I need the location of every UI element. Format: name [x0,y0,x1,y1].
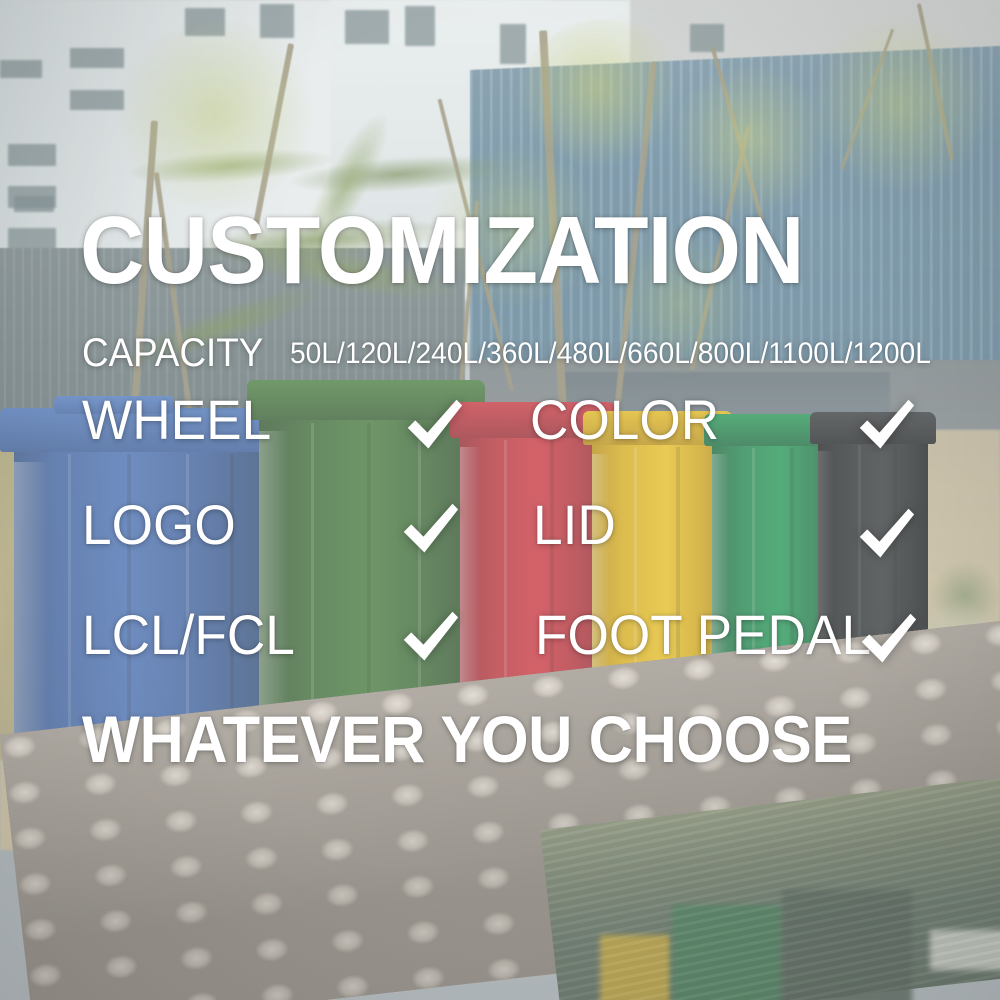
promo-banner: CUSTOMIZATION CAPACITY 50L/120L/240L/360… [0,0,1000,1000]
checkmark-icon-lcl-fcl [400,608,460,668]
page-title: CUSTOMIZATION [80,203,804,299]
feature-label-lcl-fcl: LCL/FCL [82,607,295,663]
feature-label-lid: LID [533,497,616,553]
checkmark-icon-color [856,396,916,456]
checkmark-icon-wheel [404,396,464,456]
feature-label-color: COLOR [530,392,719,448]
capacity-label: CAPACITY [82,333,263,373]
feature-label-wheel: WHEEL [82,392,271,448]
feature-label-logo: LOGO [82,497,236,553]
checkmark-icon-lid [856,505,916,565]
text-overlay: CUSTOMIZATION CAPACITY 50L/120L/240L/360… [0,0,1000,1000]
feature-label-foot-pedal: FOOT PEDAL [535,607,871,663]
checkmark-icon-logo [400,500,460,560]
capacity-values: 50L/120L/240L/360L/480L/660L/800L/1100L/… [290,339,931,369]
checkmark-icon-foot-pedal [858,610,918,670]
tagline: WHATEVER YOU CHOOSE [82,706,852,772]
